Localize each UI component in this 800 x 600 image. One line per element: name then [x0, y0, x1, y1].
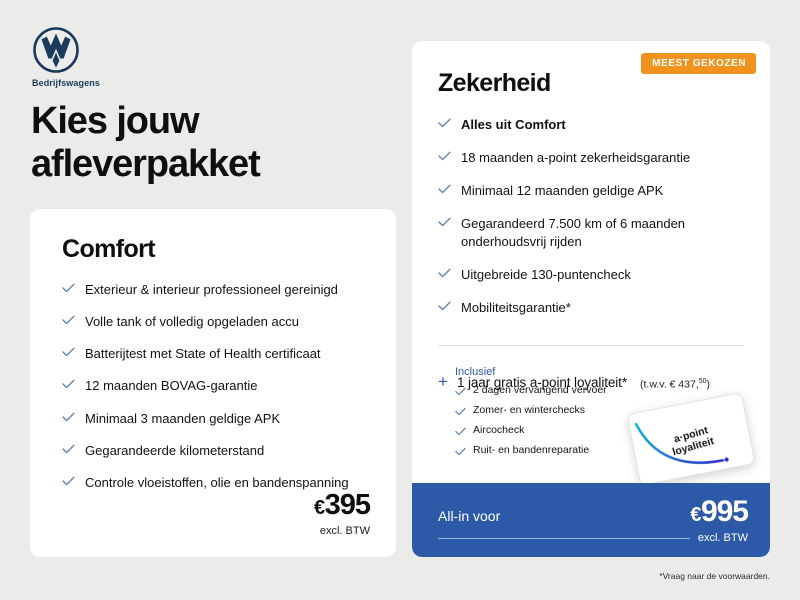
list-item: Controle vloeistoffen, olie en bandenspa…	[62, 474, 362, 491]
check-icon	[62, 476, 75, 486]
brand-name: Bedrijfswagens	[32, 78, 100, 88]
package-card-comfort[interactable]: Comfort Exterieur & interieur profession…	[30, 209, 396, 557]
comfort-price-note: excl. BTW	[314, 525, 370, 537]
vw-logo-icon	[32, 26, 100, 74]
list-item: Minimaal 3 maanden geldige APK	[62, 410, 362, 427]
list-item: Uitgebreide 130-puntencheck	[438, 266, 748, 283]
check-icon	[438, 217, 451, 227]
check-icon	[62, 283, 75, 293]
list-item: Batterijtest met State of Health certifi…	[62, 345, 362, 362]
check-icon	[438, 184, 451, 194]
comfort-feature-list: Exterieur & interieur professioneel gere…	[62, 281, 362, 506]
comfort-price-block: €395 excl. BTW	[314, 491, 370, 537]
inclusief-title: Inclusief	[455, 366, 495, 378]
list-item-label: Ruit- en bandenreparatie	[473, 444, 589, 456]
zekerheid-title: Zekerheid	[438, 69, 551, 98]
promo-graphic: Bedrijfswagens Kies jouw afleverpakket C…	[0, 0, 800, 600]
list-item-label: Exterieur & interieur professioneel gere…	[85, 281, 338, 298]
check-icon	[455, 427, 466, 436]
loyalty-value-cents: 50	[699, 378, 707, 385]
check-icon	[438, 268, 451, 278]
list-item: Exterieur & interieur professioneel gere…	[62, 281, 362, 298]
footnote: *Vraag naar de voorwaarden.	[659, 571, 770, 581]
list-item-label: Gegarandeerde kilometerstand	[85, 442, 264, 459]
check-icon	[62, 379, 75, 389]
check-icon	[438, 151, 451, 161]
check-icon	[438, 118, 451, 128]
check-icon	[62, 412, 75, 422]
list-item-label: Minimaal 3 maanden geldige APK	[85, 410, 280, 427]
list-item-label: Volle tank of volledig opgeladen accu	[85, 313, 299, 330]
list-item-label: Alles uit Comfort	[461, 116, 566, 133]
list-item-label: Controle vloeistoffen, olie en bandenspa…	[85, 474, 349, 491]
list-item-label: Zomer- en winterchecks	[473, 404, 585, 416]
comfort-title: Comfort	[62, 235, 155, 264]
list-item-label: 2 dagen vervangend vervoer	[473, 384, 607, 396]
check-icon	[62, 347, 75, 357]
list-item: Gegarandeerde kilometerstand	[62, 442, 362, 459]
currency-symbol: €	[314, 497, 325, 519]
list-item-label: Batterijtest met State of Health certifi…	[85, 345, 321, 362]
check-icon	[455, 447, 466, 456]
list-item: 2 dagen vervangend vervoer	[455, 384, 665, 396]
check-icon	[455, 407, 466, 416]
check-icon	[62, 444, 75, 454]
check-icon	[438, 301, 451, 311]
brand-block: Bedrijfswagens	[32, 26, 100, 88]
check-icon	[455, 387, 466, 396]
loyalty-value-suffix: )	[707, 378, 711, 390]
list-item: Volle tank of volledig opgeladen accu	[62, 313, 362, 330]
zekerheid-feature-list: Alles uit Comfort 18 maanden a-point zek…	[438, 116, 748, 332]
plus-icon: +	[438, 373, 448, 390]
list-item-label: Mobiliteitsgarantie*	[461, 299, 571, 316]
list-item-label: 18 maanden a-point zekerheidsgarantie	[461, 149, 690, 166]
package-card-zekerheid[interactable]: MEEST GEKOZEN Zekerheid Alles uit Comfor…	[412, 41, 770, 557]
list-item: Mobiliteitsgarantie*	[438, 299, 748, 316]
list-item-label: Gegarandeerd 7.500 km of 6 maanden onder…	[461, 215, 748, 249]
list-item-label: Minimaal 12 maanden geldige APK	[461, 182, 663, 199]
list-item-label: 12 maanden BOVAG-garantie	[85, 377, 257, 394]
check-icon	[62, 315, 75, 325]
list-item-label: Uitgebreide 130-puntencheck	[461, 266, 631, 283]
list-item: Alles uit Comfort	[438, 116, 748, 133]
divider	[438, 345, 744, 346]
page-title: Kies jouw afleverpakket	[31, 100, 371, 185]
list-item: 12 maanden BOVAG-garantie	[62, 377, 362, 394]
status-badge: MEEST GEKOZEN	[641, 53, 756, 74]
list-item: Gegarandeerd 7.500 km of 6 maanden onder…	[438, 215, 748, 249]
list-item: 18 maanden a-point zekerheidsgarantie	[438, 149, 748, 166]
price-amount: 395	[325, 489, 370, 521]
comfort-price: €395	[314, 491, 370, 520]
list-item-label: Aircocheck	[473, 424, 524, 436]
list-item: Minimaal 12 maanden geldige APK	[438, 182, 748, 199]
